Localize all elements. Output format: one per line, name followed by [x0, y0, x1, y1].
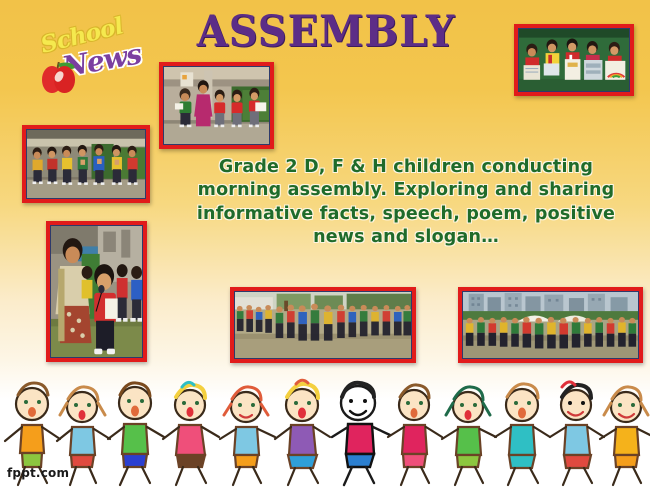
page-title: ASSEMBLY [176, 6, 476, 57]
photo-children-reading-with-teacher [159, 62, 274, 149]
photo-ground-assembly-crowd [230, 287, 416, 363]
school-news-logo: School News [32, 18, 150, 98]
apple-icon [42, 62, 76, 93]
photo-child-speaking-on-mic [46, 221, 147, 362]
photo-students-praying-in-line [22, 125, 150, 203]
fppt-watermark: fppt.com [7, 466, 69, 480]
photo-ground-assembly-highrise [458, 287, 643, 363]
assembly-slide: School News ASSEMBLY Grade 2 D, F & H ch… [0, 0, 650, 487]
photo-students-with-charts [514, 24, 634, 96]
assembly-description-text: Grade 2 D, F & H children conducting mor… [186, 156, 626, 250]
doodle-children-border [0, 369, 650, 487]
